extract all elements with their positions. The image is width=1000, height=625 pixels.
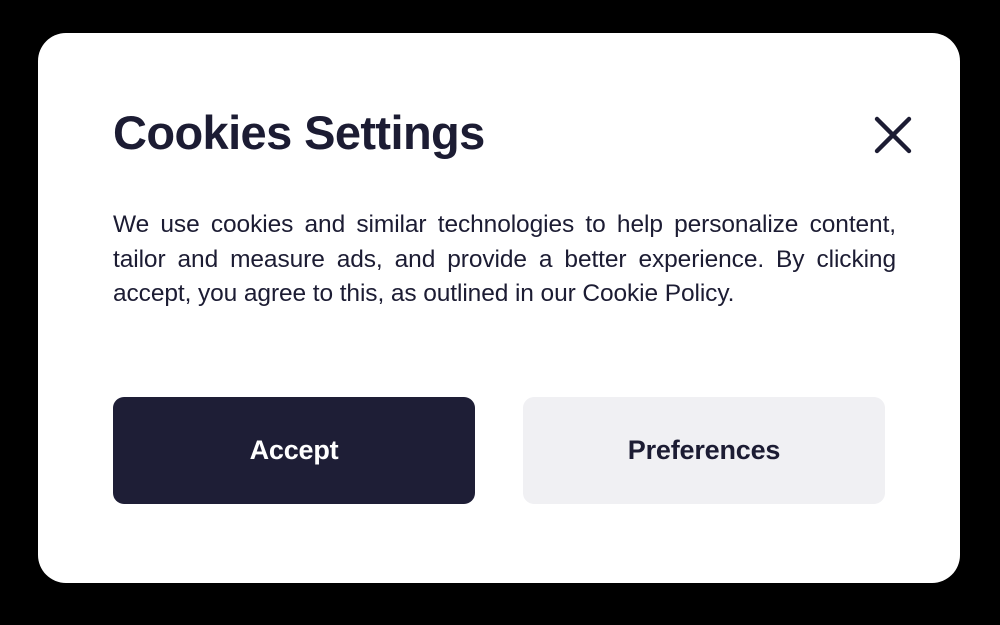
screen-background: Cookies Settings We use cookies and simi… <box>0 0 1000 625</box>
close-icon <box>871 113 915 157</box>
dialog-description: We use cookies and similar technologies … <box>113 208 896 312</box>
dialog-header: Cookies Settings <box>113 104 923 166</box>
page-title: Cookies Settings <box>113 104 485 162</box>
cookies-settings-dialog: Cookies Settings We use cookies and simi… <box>38 33 960 583</box>
accept-button[interactable]: Accept <box>113 397 475 504</box>
close-button[interactable] <box>869 111 917 159</box>
preferences-button[interactable]: Preferences <box>523 397 885 504</box>
dialog-actions: Accept Preferences <box>113 397 885 504</box>
